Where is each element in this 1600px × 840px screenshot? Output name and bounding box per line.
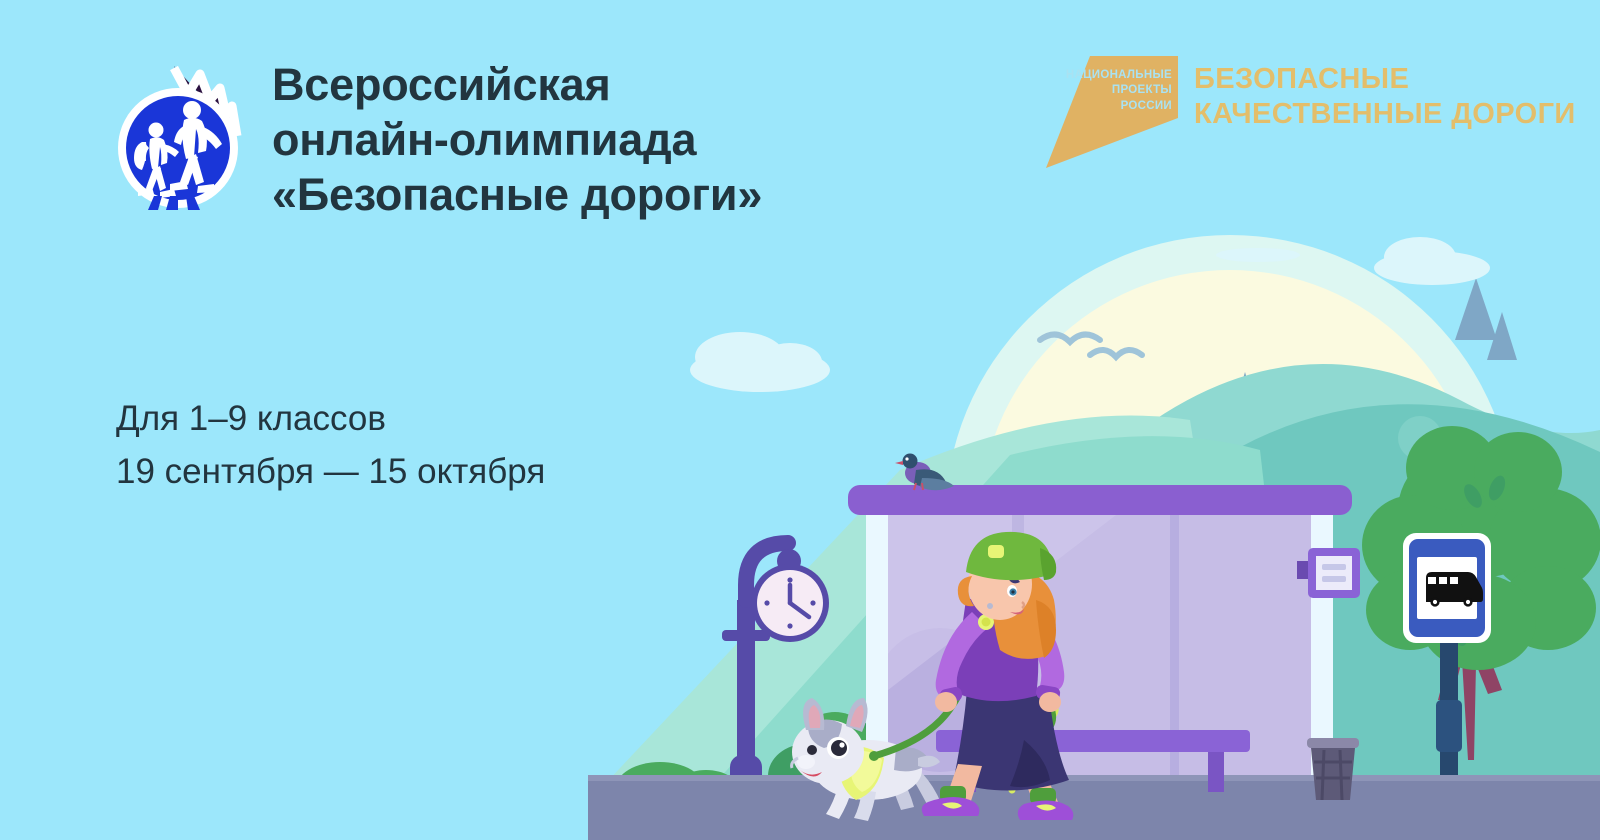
flag-line-1: НАЦИОНАЛЬНЫЕ — [1066, 68, 1172, 83]
bench-leg-right — [1208, 752, 1224, 792]
flag-line-3: РОССИИ — [1066, 99, 1172, 114]
dates-label: 19 сентября — 15 октября — [116, 445, 545, 498]
promo-banner: Всероссийская онлайн-олимпиада «Безопасн… — [0, 0, 1600, 840]
hand-back — [935, 692, 957, 712]
flag-text: НАЦИОНАЛЬНЫЕ ПРОЕКТЫ РОССИИ — [1066, 68, 1172, 114]
logo-crosswalk — [148, 196, 200, 210]
olympiad-logo — [112, 62, 244, 212]
earring — [987, 603, 993, 609]
bus-glyph — [1426, 572, 1483, 607]
cloud-small — [1216, 248, 1300, 262]
audience-label: Для 1–9 классов — [116, 392, 545, 445]
pavement-edge — [588, 775, 1600, 781]
page-title: Всероссийская онлайн-олимпиада «Безопасн… — [272, 58, 762, 223]
beanie-patch — [988, 545, 1004, 558]
program-headline: БЕЗОПАСНЫЕ КАЧЕСТВЕННЫЕ ДОРОГИ — [1194, 62, 1576, 132]
national-projects-flag: НАЦИОНАЛЬНЫЕ ПРОЕКТЫ РОССИИ — [1038, 56, 1178, 168]
brand-lockup: Всероссийская онлайн-олимпиада «Безопасн… — [112, 58, 762, 223]
national-projects-lockup: НАЦИОНАЛЬНЫЕ ПРОЕКТЫ РОССИИ БЕЗОПАСНЫЕ К… — [1038, 56, 1576, 168]
flag-line-2: ПРОЕКТЫ — [1066, 83, 1172, 98]
pavement — [588, 775, 1600, 840]
event-details: Для 1–9 классов 19 сентября — 15 октября — [116, 392, 545, 498]
sign-pole-base — [1436, 700, 1462, 752]
hand-front — [1039, 692, 1061, 712]
